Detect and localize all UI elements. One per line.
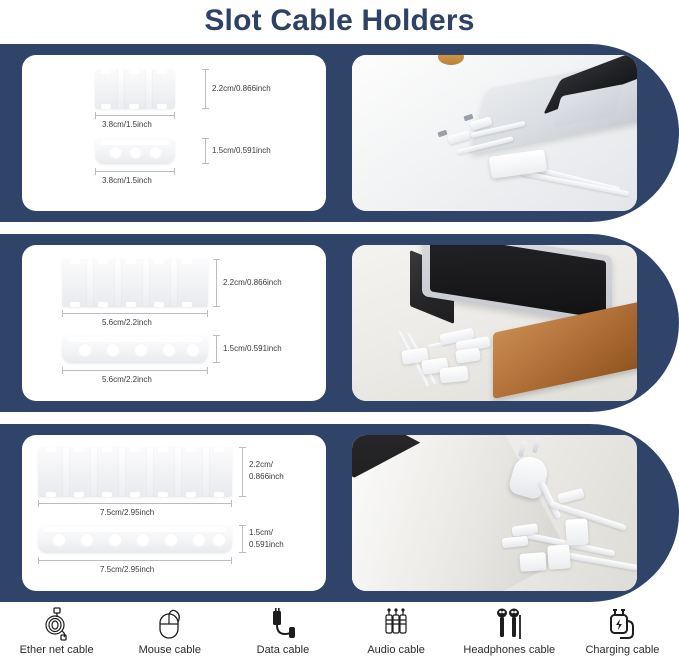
width-label-bottom-row-2: 5.6cm/2.2inch <box>102 374 152 385</box>
data-cable-icon <box>264 604 302 644</box>
legend-item-charging: Charging cable <box>566 604 679 657</box>
diagram-card-row-3: 2.2cm/ 0.866inch 7.5cm/2.95inch 1.5cm/ 0… <box>22 435 326 591</box>
height-tick-top-row-1 <box>205 69 206 109</box>
product-row-2: 2.2cm/0.866inch 5.6cm/2.2inch 1.5cm/0.59… <box>0 234 679 412</box>
legend-item-headphones: Headphones cable <box>453 604 566 657</box>
height-label-top-row-3-line2: 0.866inch <box>249 471 301 482</box>
height-tick-bottom-row-3 <box>242 525 243 553</box>
width-tick-bottom-row-2 <box>62 370 208 371</box>
audio-cable-icon <box>377 604 415 644</box>
photo-card-row-1 <box>352 55 637 211</box>
holder-front-view-row-2 <box>62 335 208 363</box>
diagram-card-row-1: 2.2cm/0.866inch 3.8cm/1.5inch 1.5cm/0.59… <box>22 55 326 211</box>
holder-front-view-row-3 <box>38 525 232 553</box>
holder-top-view-row-2 <box>62 259 208 307</box>
width-label-top-row-2: 5.6cm/2.2inch <box>102 317 152 328</box>
holder-top-view-row-1 <box>95 69 175 109</box>
cable-clip-row-3-a <box>565 518 589 545</box>
cable-type-legend: Ether net cable Mouse cable Data cable <box>0 604 679 669</box>
height-tick-bottom-row-2 <box>216 335 217 363</box>
legend-label-audio: Audio cable <box>367 644 425 657</box>
product-row-1: 2.2cm/0.866inch 3.8cm/1.5inch 1.5cm/0.59… <box>0 44 679 222</box>
photo-card-row-3 <box>352 435 637 591</box>
width-tick-top-row-2 <box>62 313 208 314</box>
legend-label-charging: Charging cable <box>585 644 659 657</box>
diagram-card-row-2: 2.2cm/0.866inch 5.6cm/2.2inch 1.5cm/0.59… <box>22 245 326 401</box>
width-label-bottom-row-1: 3.8cm/1.5inch <box>102 175 152 186</box>
height-tick-top-row-3 <box>242 447 243 497</box>
height-label-top-row-2: 2.2cm/0.866inch <box>223 277 282 288</box>
width-tick-bottom-row-3 <box>38 560 232 561</box>
cable-clip-row-2-c <box>439 366 468 384</box>
page-title: Slot Cable Holders <box>0 0 679 42</box>
legend-label-mouse: Mouse cable <box>139 644 201 657</box>
legend-item-mouse: Mouse cable <box>113 604 226 657</box>
ethernet-cable-icon <box>38 604 76 644</box>
width-label-top-row-1: 3.8cm/1.5inch <box>102 119 152 130</box>
photo-card-row-2 <box>352 245 637 401</box>
product-rows: 2.2cm/0.866inch 3.8cm/1.5inch 1.5cm/0.59… <box>0 44 679 602</box>
width-label-top-row-3: 7.5cm/2.95inch <box>100 507 154 518</box>
product-row-3: 2.2cm/ 0.866inch 7.5cm/2.95inch 1.5cm/ 0… <box>0 424 679 602</box>
legend-item-ethernet: Ether net cable <box>0 604 113 657</box>
height-label-top-row-1: 2.2cm/0.866inch <box>212 83 271 94</box>
height-label-bottom-row-1: 1.5cm/0.591inch <box>212 145 271 156</box>
legend-label-data: Data cable <box>257 644 310 657</box>
cable-clip-row-3-c <box>519 552 546 572</box>
height-label-bottom-row-3-line1: 1.5cm/ <box>249 527 301 538</box>
width-tick-top-row-3 <box>38 503 232 504</box>
legend-item-data: Data cable <box>226 604 339 657</box>
holder-front-view-row-1 <box>95 138 175 164</box>
legend-item-audio: Audio cable <box>340 604 453 657</box>
width-tick-bottom-row-1 <box>95 171 175 172</box>
headphones-cable-icon <box>490 604 528 644</box>
width-tick-top-row-1 <box>95 115 175 116</box>
height-tick-bottom-row-1 <box>205 138 206 164</box>
charging-cable-icon <box>603 604 641 644</box>
mouse-cable-icon <box>151 604 189 644</box>
height-tick-top-row-2 <box>216 259 217 307</box>
cable-clip-row-3-b <box>547 544 571 569</box>
height-label-bottom-row-2: 1.5cm/0.591inch <box>223 343 282 354</box>
legend-label-headphones: Headphones cable <box>463 644 555 657</box>
height-label-top-row-3-line1: 2.2cm/ <box>249 459 301 470</box>
height-label-bottom-row-3-line2: 0.591inch <box>249 539 301 550</box>
holder-top-view-row-3 <box>38 447 232 497</box>
legend-label-ethernet: Ether net cable <box>20 644 94 657</box>
width-label-bottom-row-3: 7.5cm/2.95inch <box>100 564 154 575</box>
